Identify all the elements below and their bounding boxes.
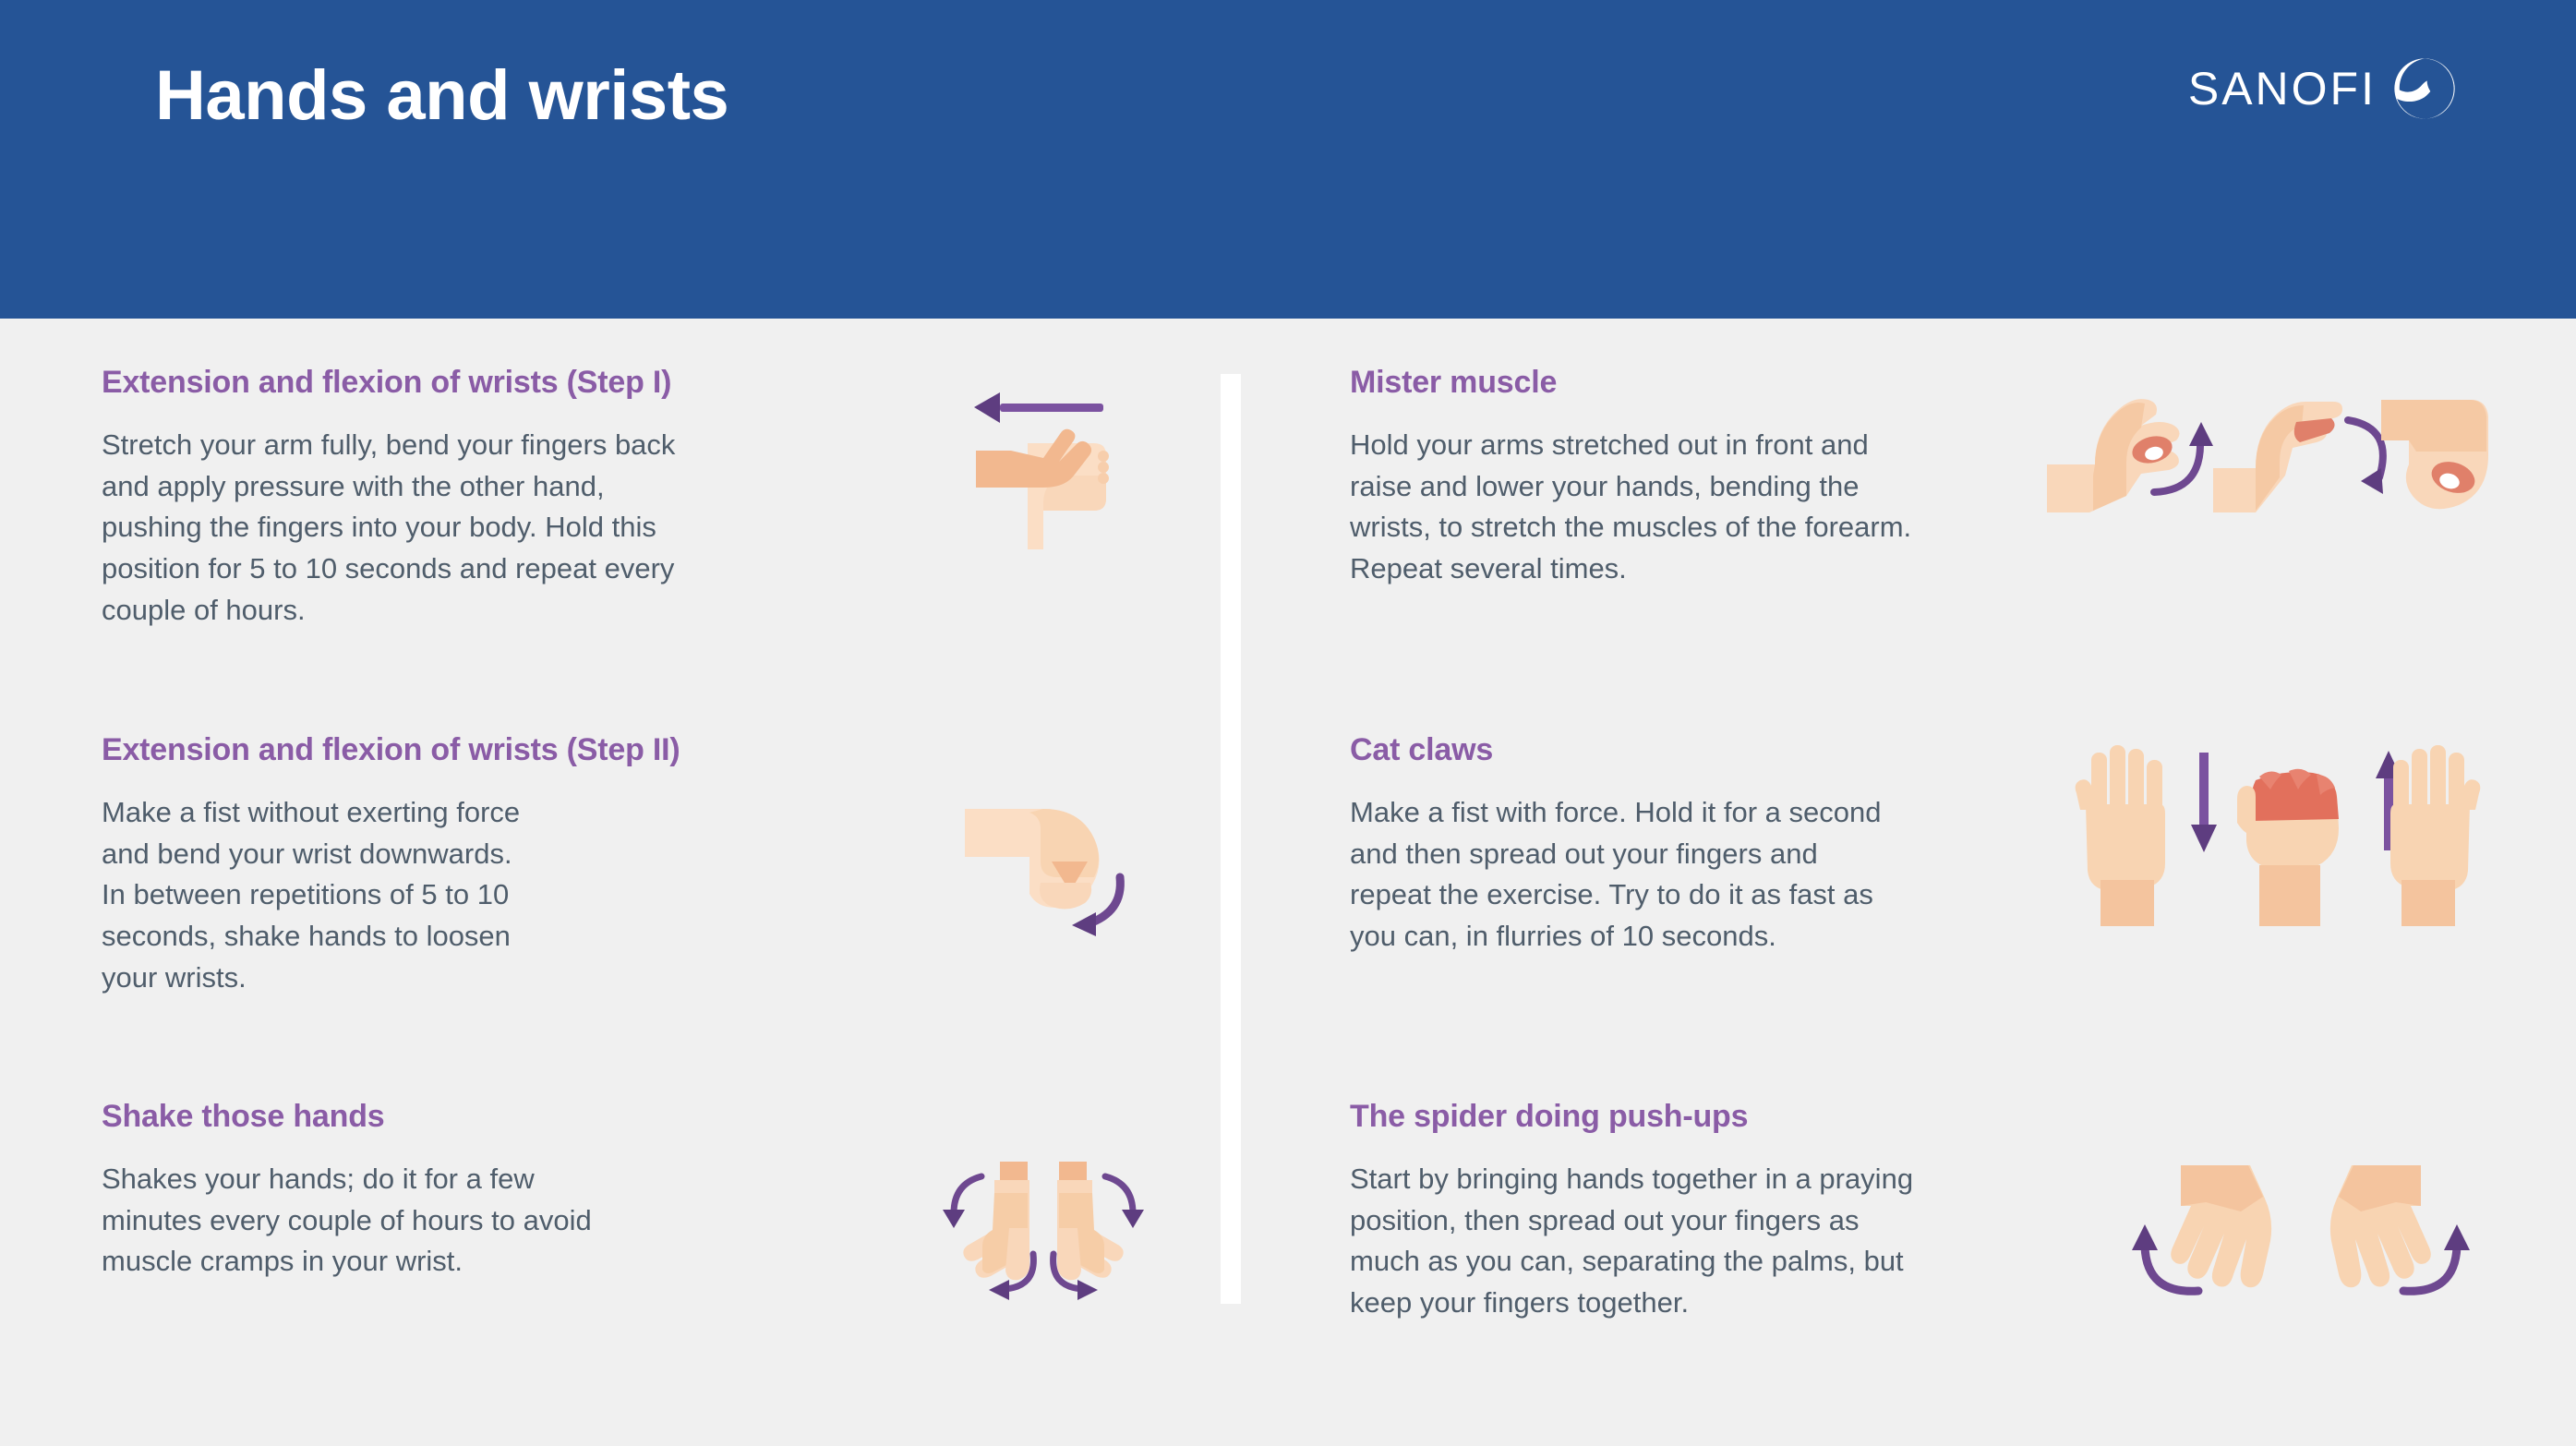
exercise-description: Shakes your hands; do it for a few minut… [102, 1159, 592, 1283]
exercise-description: Hold your arms stretched out in front an… [1350, 425, 1911, 590]
forearm-fist-bent-down-with-curved-arrow-icon [956, 774, 1150, 940]
exercise-text: Extension and flexion of wrists (Step II… [102, 732, 680, 998]
page-title: Hands and wrists [155, 57, 728, 135]
three-forearms-raise-lower-with-curved-arrows-icon [2038, 374, 2499, 554]
exercise-text: Cat claws Make a fist with force. Hold i… [1350, 732, 1881, 958]
sanofi-swirl-icon [2393, 57, 2456, 120]
two-hands-fingertips-touching-with-outward-arrows-icon [2102, 1127, 2499, 1307]
column-divider [1221, 374, 1241, 1304]
brand-wordmark: SANOFI [2188, 66, 2377, 112]
exercise-title: Extension and flexion of wrists (Step II… [102, 732, 680, 768]
exercise-description: Make a fist with force. Hold it for a se… [1350, 792, 1881, 958]
exercise-text: The spider doing push-ups Start by bring… [1350, 1099, 1913, 1324]
exercise-title: Cat claws [1350, 732, 1881, 768]
exercise-description: Make a fist without exerting force and b… [102, 792, 680, 998]
content-area: Extension and flexion of wrists (Step I)… [0, 319, 2576, 1446]
exercise-text: Mister muscle Hold your arms stretched o… [1350, 365, 1911, 590]
exercise-title: Extension and flexion of wrists (Step I) [102, 365, 675, 401]
exercise-text: Extension and flexion of wrists (Step I)… [102, 365, 675, 631]
exercise-title: Shake those hands [102, 1099, 592, 1135]
two-hands-shaking-with-four-curved-arrows-icon [937, 1136, 1150, 1320]
exercise-description: Stretch your arm fully, bend your finger… [102, 425, 675, 631]
open-hand-down-arrow-fist-up-arrow-open-hand-icon [2056, 732, 2499, 926]
two-hands-stretch-with-left-arrow-icon [956, 388, 1150, 563]
exercise-title: The spider doing push-ups [1350, 1099, 1913, 1135]
page-header: Hands and wrists SANOFI [0, 0, 2576, 319]
brand-logo: SANOFI [2188, 57, 2456, 120]
exercise-title: Mister muscle [1350, 365, 1911, 401]
exercise-text: Shake those hands Shakes your hands; do … [102, 1099, 592, 1283]
exercise-description: Start by bringing hands together in a pr… [1350, 1159, 1913, 1324]
